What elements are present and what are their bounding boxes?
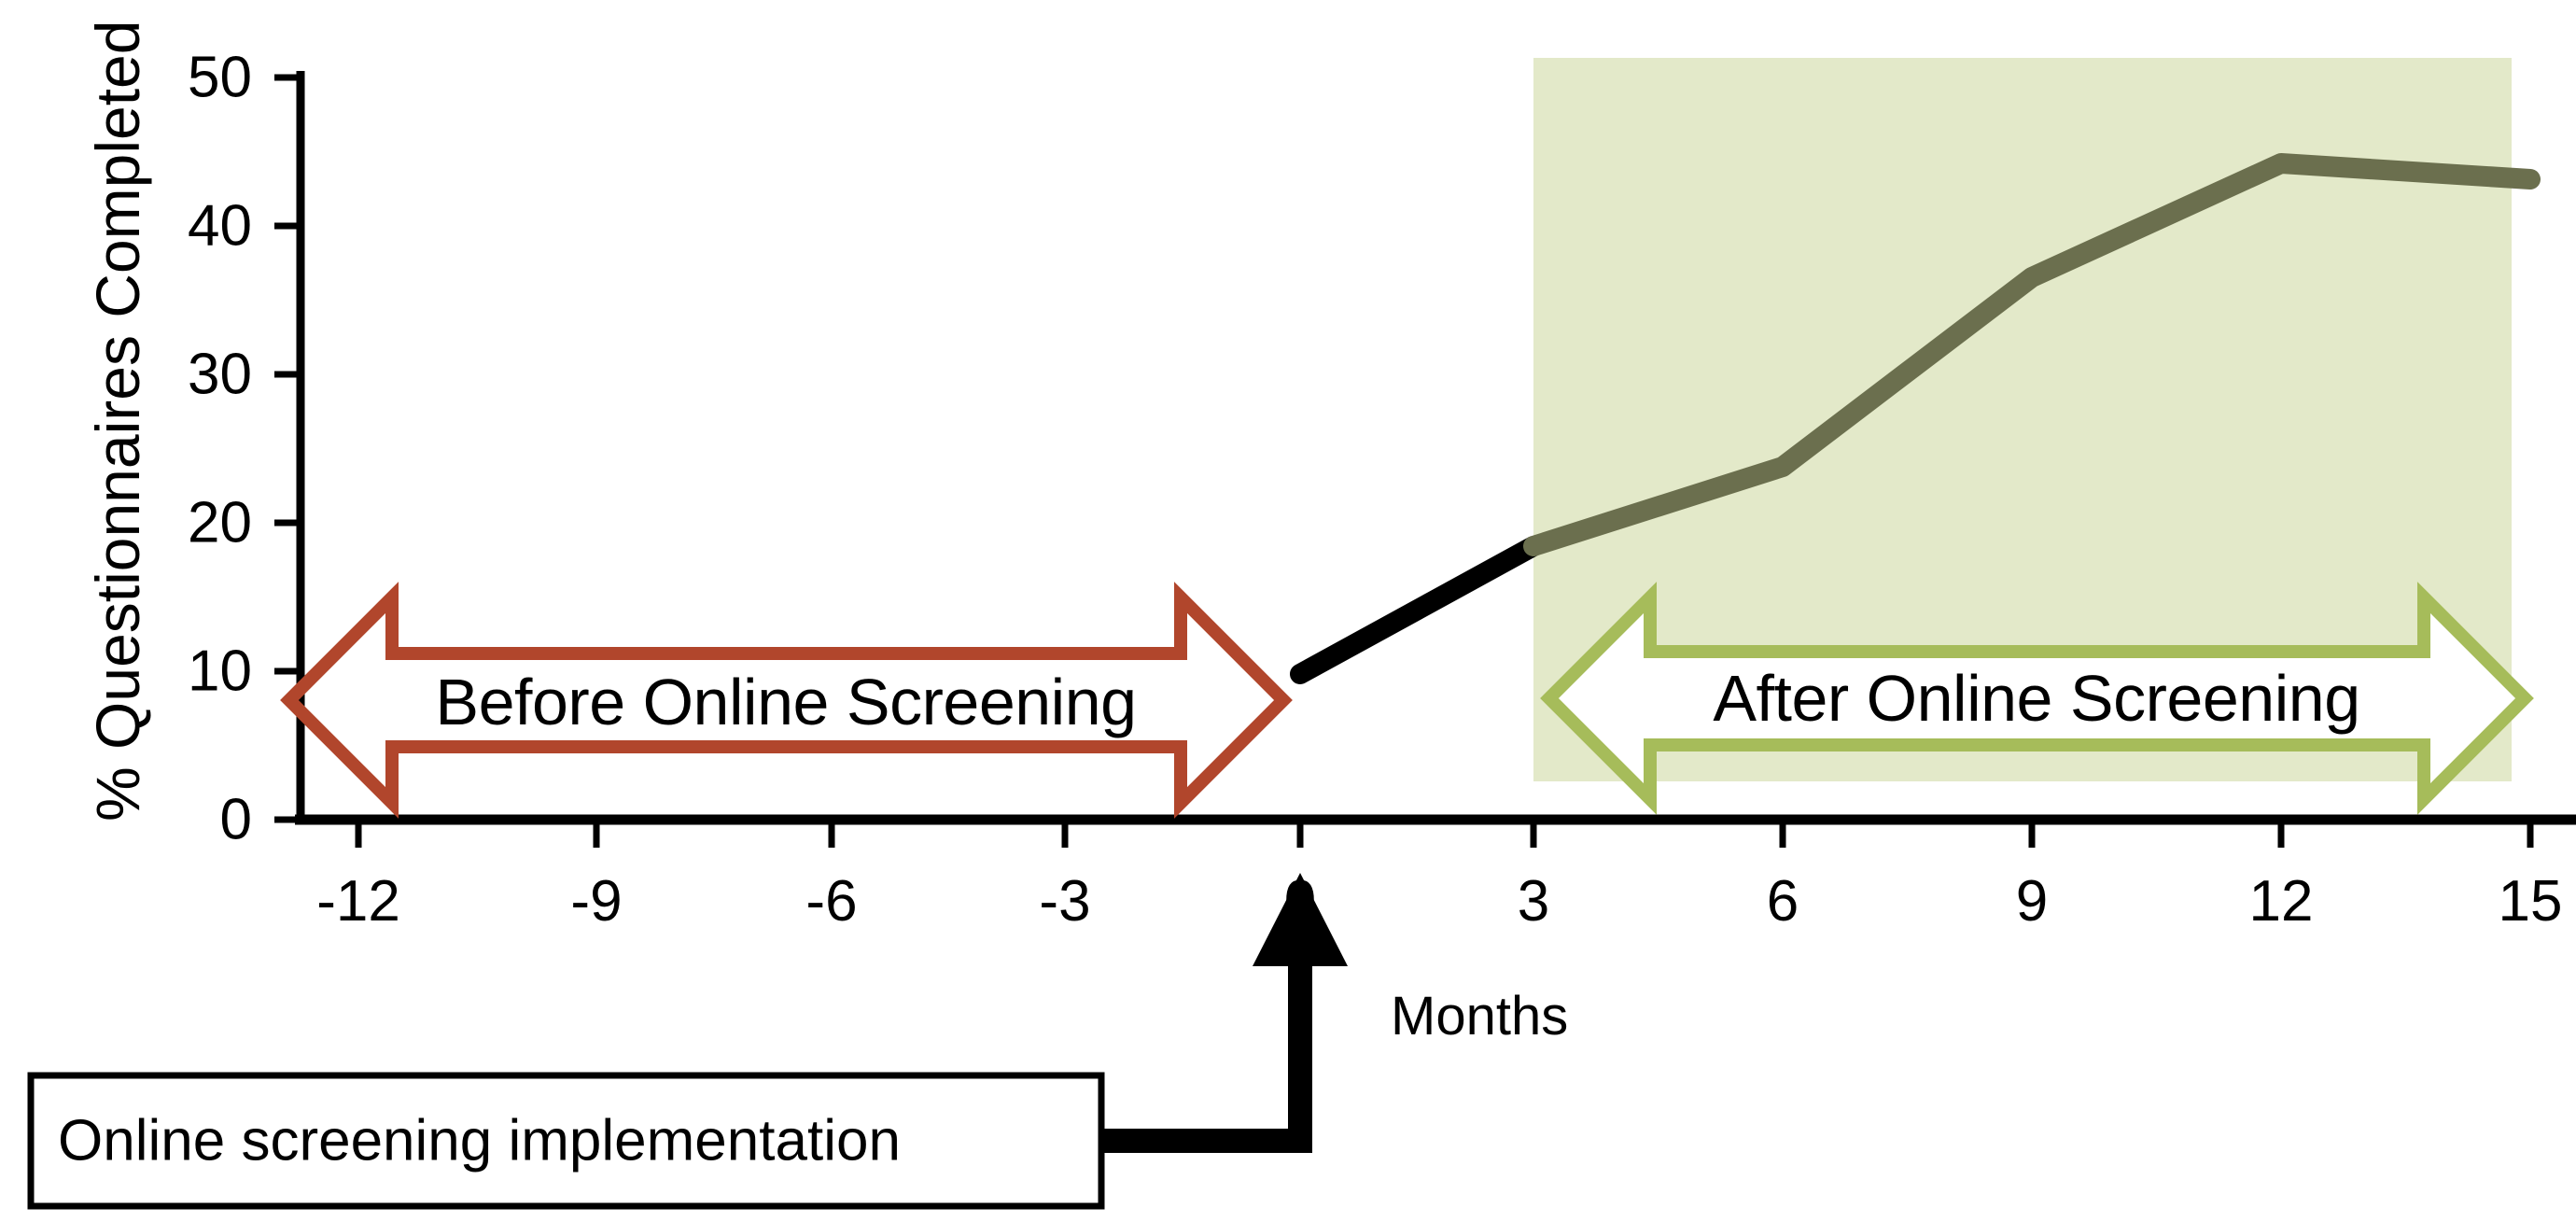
x-axis-title: Months	[1391, 985, 1568, 1047]
x-tick-label-6: 6	[1767, 868, 1799, 934]
y-tick-label-40: 40	[140, 193, 252, 260]
chart-graphics	[0, 0, 2576, 1222]
chart-canvas: % Questionnaires Completed 50 40 30 20 1…	[0, 0, 2576, 1222]
before-online-screening-label: Before Online Screening	[435, 665, 1136, 739]
x-tick-label-minus9: -9	[570, 868, 622, 934]
y-tick-label-20: 20	[140, 490, 252, 556]
x-tick-label-minus6: -6	[805, 868, 857, 934]
x-tick-label-3: 3	[1518, 868, 1549, 934]
y-tick-label-50: 50	[140, 45, 252, 111]
y-tick-label-0: 0	[140, 787, 252, 853]
data-line-pre-implementation	[1300, 546, 1533, 674]
x-tick-label-15: 15	[2499, 868, 2563, 934]
y-tick-label-30: 30	[140, 342, 252, 408]
x-tick-label-9: 9	[2016, 868, 2048, 934]
x-tick-label-minus3: -3	[1039, 868, 1090, 934]
after-online-screening-label: After Online Screening	[1713, 661, 2359, 736]
x-tick-label-minus12: -12	[316, 868, 400, 934]
implementation-callout-label: Online screening implementation	[58, 1108, 901, 1174]
y-tick-label-10: 10	[140, 639, 252, 705]
x-tick-label-0: 0	[1284, 868, 1316, 934]
x-tick-label-12: 12	[2249, 868, 2314, 934]
implementation-callout-connector	[1101, 954, 1300, 1141]
